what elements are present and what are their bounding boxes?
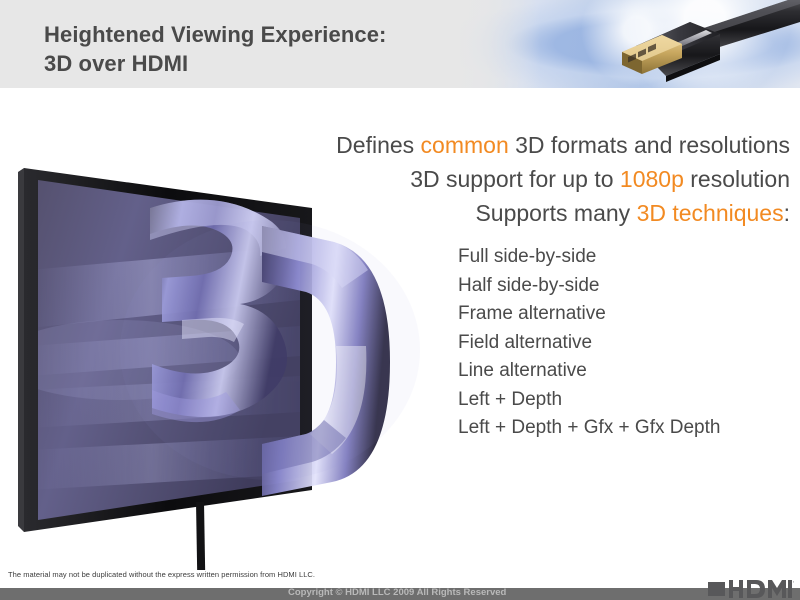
- list-item: Left + Depth: [458, 386, 798, 415]
- list-item: Left + Depth + Gfx + Gfx Depth: [458, 414, 798, 443]
- bullet-text-pre: 3D support for up to: [410, 166, 620, 192]
- techniques-list: Full side-by-side Half side-by-side Fram…: [458, 243, 798, 443]
- bullet-highlight: 1080p: [620, 166, 684, 192]
- svg-text:™: ™: [793, 580, 795, 585]
- bullet-item: 3D support for up to 1080p resolution: [230, 162, 790, 196]
- page-title: Heightened Viewing Experience: 3D over H…: [44, 20, 474, 78]
- slide-header: Heightened Viewing Experience: 3D over H…: [0, 0, 800, 88]
- list-item: Half side-by-side: [458, 272, 798, 301]
- copyright-bar: Copyright © HDMI LLC 2009 All Rights Res…: [0, 588, 800, 600]
- list-item: Field alternative: [458, 329, 798, 358]
- hdmi-logo: ™: [708, 578, 794, 600]
- title-line-1: Heightened Viewing Experience:: [44, 22, 386, 47]
- bullet-item: Defines common 3D formats and resolution…: [230, 128, 790, 162]
- main-bullet-list: Defines common 3D formats and resolution…: [230, 128, 790, 230]
- bullet-text-pre: Supports many: [475, 200, 636, 226]
- bullet-text-post: :: [784, 200, 790, 226]
- bullet-highlight: 3D techniques: [637, 200, 784, 226]
- list-item: Full side-by-side: [458, 243, 798, 272]
- bullet-text-post: 3D formats and resolutions: [509, 132, 790, 158]
- hdmi-cable-icon: [570, 0, 800, 88]
- title-line-2: 3D over HDMI: [44, 49, 474, 78]
- copyright-text: Copyright © HDMI LLC 2009 All Rights Res…: [288, 587, 506, 598]
- list-item: Line alternative: [458, 357, 798, 386]
- bullet-item: Supports many 3D techniques:: [230, 196, 790, 230]
- bullet-text-pre: Defines: [336, 132, 420, 158]
- disclaimer-text: The material may not be duplicated witho…: [8, 570, 315, 579]
- bullet-text-post: resolution: [684, 166, 790, 192]
- slide: Heightened Viewing Experience: 3D over H…: [0, 0, 800, 600]
- bullet-highlight: common: [421, 132, 509, 158]
- list-item: Frame alternative: [458, 300, 798, 329]
